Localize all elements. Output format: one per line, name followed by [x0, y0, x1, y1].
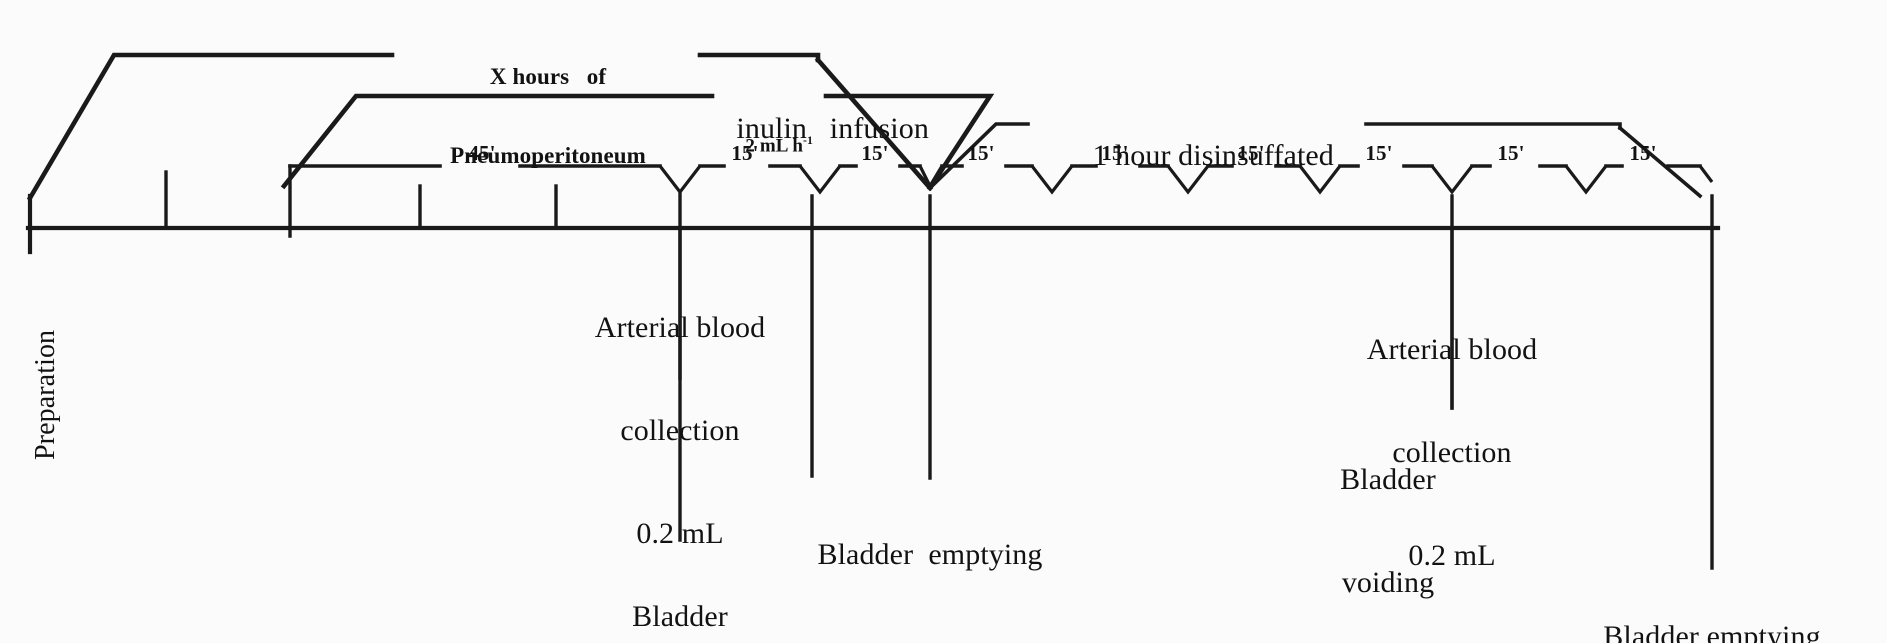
- event-label-bladder-emptying-1-line1: Bladder: [560, 600, 800, 634]
- interval-label-2: 15': [716, 142, 774, 166]
- interval-label-4: 15': [952, 142, 1010, 166]
- interval-label-9: 15': [1614, 142, 1672, 166]
- axis-label-preparation: Preparation: [30, 330, 62, 460]
- phase-label-disinsuffated: 1 hour disinsuffated: [1026, 105, 1370, 208]
- event-label-bladder-voiding-line2: voiding: [1283, 566, 1493, 600]
- interval-notch-7: [1566, 166, 1606, 192]
- event-label-bladder-voiding: Bladder voiding: [1283, 395, 1493, 643]
- phase-label-pneumoperitoneum-line1: X hours of: [400, 64, 696, 90]
- interval-label-3: 15': [846, 142, 904, 166]
- event-label-bladder-emptying-1st-sample: Bladder emptying 1st sample: [765, 470, 1095, 643]
- interval-notch-8: [1700, 166, 1712, 182]
- interval-label-5: 15': [1086, 142, 1144, 166]
- event-label-bladder-emptying-2nd-sample: Bladder emptying 2nd sample: [1532, 552, 1887, 643]
- event-label-arterial-blood-1-line1: Arterial blood: [556, 311, 804, 345]
- event-label-arterial-blood-1-line2: collection: [556, 414, 804, 448]
- event-label-1st-sample-line1: Bladder emptying: [765, 538, 1095, 572]
- disinsuffated-bar-right: [1366, 124, 1620, 128]
- interval-notch-6: [1432, 166, 1472, 192]
- event-label-2nd-sample-line1: Bladder emptying: [1532, 620, 1887, 643]
- pneumoperitoneum-bar-right: [700, 55, 818, 60]
- interval-label-7: 15': [1350, 142, 1408, 166]
- interval-label-1: 45': [444, 142, 520, 166]
- event-label-bladder-emptying-1: Bladder emptying: [560, 532, 800, 643]
- interval-label-6: 15': [1222, 142, 1280, 166]
- phase-label-pneumoperitoneum: X hours of Pneumoperitoneum: [400, 12, 696, 222]
- event-label-arterial-blood-2-line1: Arterial blood: [1323, 333, 1581, 367]
- phase-label-inulin-rate-exponent: -1: [803, 134, 813, 147]
- event-label-bladder-voiding-line1: Bladder: [1283, 463, 1493, 497]
- interval-label-8: 15': [1482, 142, 1540, 166]
- protocol-timeline-figure: X hours of Pneumoperitoneum inulin infus…: [0, 0, 1887, 643]
- pneumoperitoneum-bar: [30, 55, 392, 198]
